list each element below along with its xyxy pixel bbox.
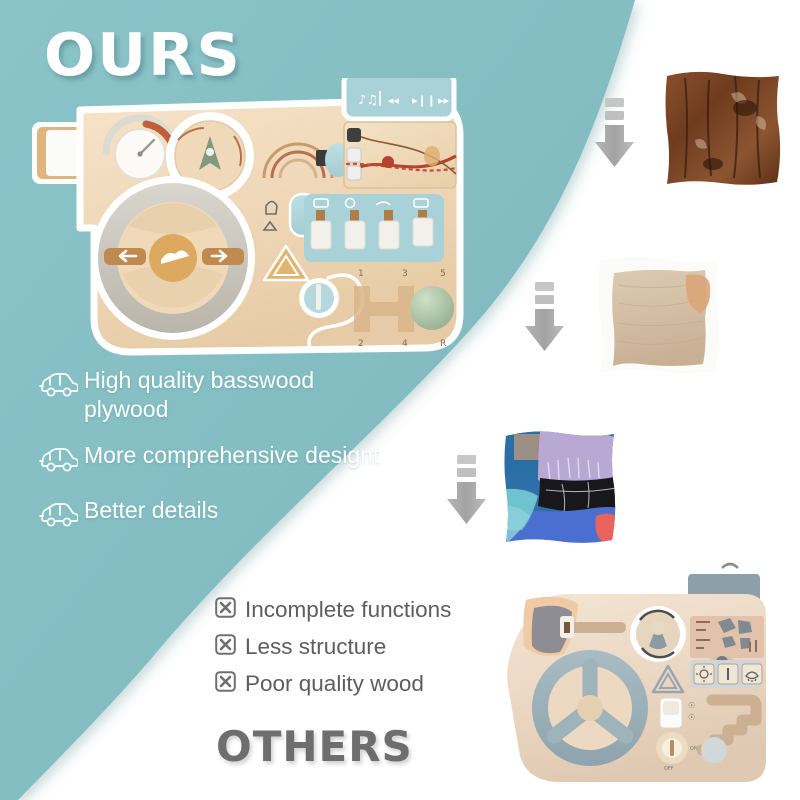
x-mark-icon bbox=[215, 671, 245, 697]
svg-text:▸❙❙: ▸❙❙ bbox=[412, 94, 436, 107]
list-item-label: More comprehensive designt bbox=[84, 441, 379, 470]
down-arrow-3 bbox=[443, 455, 489, 532]
others-feature-list: Incomplete functions Less structure Poor… bbox=[215, 596, 545, 707]
steering-wheel bbox=[91, 176, 255, 340]
list-item-label: Less structure bbox=[245, 633, 386, 660]
list-item-label: High quality basswood plywood bbox=[84, 366, 384, 423]
list-item: Better details bbox=[38, 496, 398, 533]
list-item: Incomplete functions bbox=[215, 596, 545, 623]
page-title-ours: OURS bbox=[44, 20, 242, 89]
others-product-board: ☉ ☉ OFF ON bbox=[500, 560, 800, 800]
ours-feature-list: High quality basswood plywood More compr… bbox=[38, 366, 398, 551]
svg-text:2: 2 bbox=[358, 339, 364, 349]
list-item-label: Incomplete functions bbox=[245, 596, 451, 623]
mixed-scrap-material-sample bbox=[500, 428, 620, 551]
steering-wheel bbox=[532, 650, 648, 766]
x-mark-icon bbox=[215, 597, 245, 623]
music-player-panel: ♪♫ ◂◂ ▸❙❙ ▸▸ bbox=[344, 78, 454, 119]
list-item: Poor quality wood bbox=[215, 670, 545, 697]
x-mark-icon bbox=[215, 634, 245, 660]
svg-text:3: 3 bbox=[402, 269, 408, 279]
list-item-label: Poor quality wood bbox=[245, 670, 424, 697]
svg-text:R: R bbox=[440, 339, 446, 349]
round-dial bbox=[630, 606, 686, 662]
page-title-others: OTHERS bbox=[216, 722, 413, 771]
button-panel bbox=[690, 660, 762, 688]
down-arrow-1 bbox=[591, 98, 637, 175]
svg-text:♪♫: ♪♫ bbox=[358, 93, 378, 108]
car-icon bbox=[38, 441, 84, 478]
svg-text:◂◂: ◂◂ bbox=[388, 94, 400, 107]
rough-bark-wood-sample bbox=[661, 68, 785, 191]
stone-panel bbox=[690, 616, 764, 658]
slider-switch-panel bbox=[304, 194, 444, 262]
car-icon bbox=[38, 496, 84, 533]
list-item: Less structure bbox=[215, 633, 545, 660]
list-item-label: Better details bbox=[84, 496, 218, 525]
ours-product-board: ♪♫ ◂◂ ▸❙❙ ▸▸ bbox=[28, 78, 468, 373]
svg-text:☉: ☉ bbox=[688, 713, 695, 722]
car-icon bbox=[38, 366, 84, 403]
svg-text:5: 5 bbox=[440, 269, 446, 279]
svg-text:1: 1 bbox=[358, 269, 364, 279]
svg-text:☉: ☉ bbox=[688, 701, 695, 710]
map-display bbox=[344, 122, 456, 188]
list-item: High quality basswood plywood bbox=[38, 366, 398, 423]
svg-text:4: 4 bbox=[402, 339, 408, 349]
svg-text:OFF: OFF bbox=[664, 766, 674, 772]
down-arrow-2 bbox=[521, 282, 567, 359]
svg-text:▸▸: ▸▸ bbox=[438, 94, 450, 107]
comparison-infographic: ♪♫ ◂◂ ▸❙❙ ▸▸ bbox=[0, 0, 800, 800]
basswood-plywood-sample bbox=[594, 255, 724, 380]
list-item: More comprehensive designt bbox=[38, 441, 398, 478]
